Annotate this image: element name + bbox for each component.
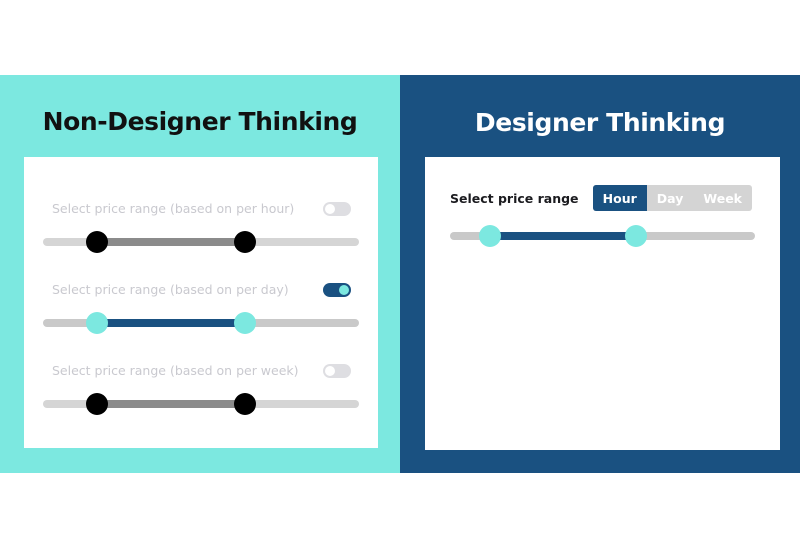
price-range-slider-week-handle-min[interactable] — [86, 393, 108, 415]
price-range-slider-hour-handle-min[interactable] — [86, 231, 108, 253]
time-unit-segmented-control[interactable]: Hour Day Week — [593, 185, 752, 211]
price-row-hour: Select price range (based on per hour) — [24, 201, 378, 223]
price-row-day-label: Select price range (based on per day) — [52, 282, 289, 297]
price-row-hour-label: Select price range (based on per hour) — [52, 201, 294, 216]
price-row-day: Select price range (based on per day) — [24, 282, 378, 304]
price-range-slider-day-fill — [97, 319, 246, 327]
toggle-hour[interactable] — [323, 202, 351, 216]
price-range-slider-handle-min[interactable] — [479, 225, 501, 247]
non-designer-panel-title: Non-Designer Thinking — [0, 107, 400, 136]
price-row-week: Select price range (based on per week) — [24, 363, 378, 385]
price-range-slider[interactable] — [450, 232, 755, 240]
segment-hour[interactable]: Hour — [593, 185, 647, 211]
toggle-day[interactable] — [323, 283, 351, 297]
price-row-week-head: Select price range (based on per week) — [24, 363, 378, 385]
price-range-slider-handle-max[interactable] — [625, 225, 647, 247]
designer-panel: Designer Thinking Select price range Hou… — [400, 75, 800, 473]
price-row-week-label: Select price range (based on per week) — [52, 363, 299, 378]
price-range-slider-hour[interactable] — [43, 238, 359, 246]
price-range-slider-hour-handle-max[interactable] — [234, 231, 256, 253]
designer-panel-title: Designer Thinking — [400, 108, 800, 137]
price-range-slider-week-fill — [97, 400, 246, 408]
designer-card: Select price range Hour Day Week — [425, 157, 780, 450]
non-designer-panel: Non-Designer Thinking Select price range… — [0, 75, 400, 473]
toggle-week-knob — [325, 366, 335, 376]
price-range-slider-day-handle-min[interactable] — [86, 312, 108, 334]
segment-week[interactable]: Week — [693, 185, 752, 211]
price-range-slider-fill — [490, 232, 636, 240]
price-range-slider-week-handle-max[interactable] — [234, 393, 256, 415]
price-range-slider-day[interactable] — [43, 319, 359, 327]
toggle-week[interactable] — [323, 364, 351, 378]
price-range-slider-hour-fill — [97, 238, 246, 246]
toggle-hour-knob — [325, 204, 335, 214]
toggle-day-knob — [339, 285, 349, 295]
price-row-label: Select price range — [450, 191, 579, 206]
segment-day[interactable]: Day — [647, 185, 694, 211]
non-designer-card: Select price range (based on per hour) S… — [24, 157, 378, 448]
price-row-hour-head: Select price range (based on per hour) — [24, 201, 378, 223]
price-row-day-head: Select price range (based on per day) — [24, 282, 378, 304]
comparison-stage: Non-Designer Thinking Select price range… — [0, 75, 800, 473]
price-range-slider-day-handle-max[interactable] — [234, 312, 256, 334]
price-row-head: Select price range Hour Day Week — [425, 185, 780, 211]
price-range-slider-week[interactable] — [43, 400, 359, 408]
price-row: Select price range Hour Day Week — [425, 185, 780, 211]
